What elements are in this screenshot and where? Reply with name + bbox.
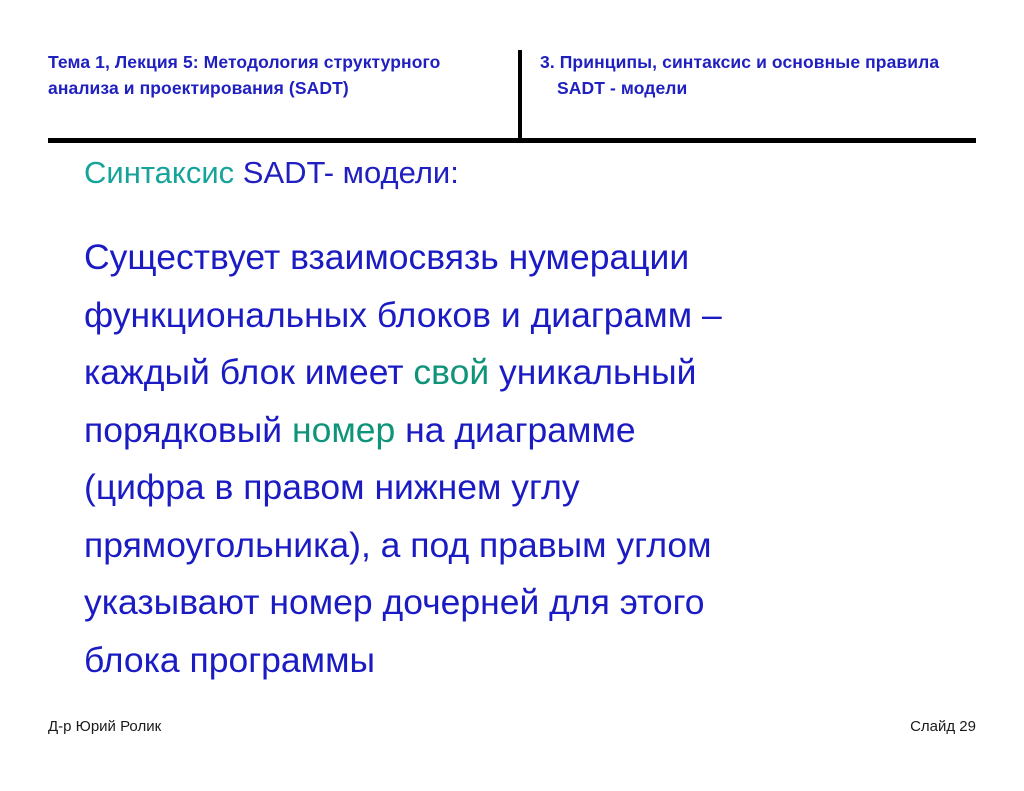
body-highlight-word: номер <box>292 410 395 450</box>
body-line: функциональных блоков и диаграмм – <box>84 287 964 345</box>
header-left-block: Тема 1, Лекция 5: Методология структурно… <box>48 50 518 101</box>
body-highlight-word: свой <box>413 352 489 392</box>
body-line: порядковый номер на диаграмме <box>84 402 964 460</box>
slide-canvas: Тема 1, Лекция 5: Методология структурно… <box>0 0 1024 791</box>
header-right-block: 3. Принципы, синтаксис и основные правил… <box>522 50 976 101</box>
subtitle-word-sadt-modeli: SADT- модели: <box>234 155 459 190</box>
body-text-segment: уникальный <box>489 352 696 392</box>
lecture-topic-title: Тема 1, Лекция 5: Методология структурно… <box>48 50 504 101</box>
slide-body-text: Существует взаимосвязь нумерациифункцион… <box>84 229 964 689</box>
subtitle-word-sintaksis: Синтаксис <box>84 155 234 190</box>
slide-subtitle: Синтаксис SADT- модели: <box>84 153 459 193</box>
section-title: 3. Принципы, синтаксис и основные правил… <box>540 50 976 101</box>
body-text-segment: указывают номер дочерней для этого <box>84 582 705 622</box>
slide-header: Тема 1, Лекция 5: Методология структурно… <box>48 50 976 140</box>
header-horizontal-rule <box>48 138 976 143</box>
body-text-segment: каждый блок имеет <box>84 352 413 392</box>
body-line: блока программы <box>84 632 964 690</box>
body-text-segment: порядковый <box>84 410 292 450</box>
body-text-segment: прямоугольника), а под правым углом <box>84 525 712 565</box>
footer-slide-number: Слайд 29 <box>910 718 976 735</box>
body-text-segment: функциональных блоков и диаграмм – <box>84 295 722 335</box>
body-text-segment: на диаграмме <box>395 410 635 450</box>
footer-author: Д-р Юрий Ролик <box>48 718 161 735</box>
body-text-segment: (цифра в правом нижнем углу <box>84 467 580 507</box>
body-line: каждый блок имеет свой уникальный <box>84 344 964 402</box>
body-text-segment: блока программы <box>84 640 375 680</box>
body-line: прямоугольника), а под правым углом <box>84 517 964 575</box>
body-line: Существует взаимосвязь нумерации <box>84 229 964 287</box>
body-text-segment: Существует взаимосвязь нумерации <box>84 237 689 277</box>
body-line: указывают номер дочерней для этого <box>84 574 964 632</box>
body-line: (цифра в правом нижнем углу <box>84 459 964 517</box>
slide-footer: Д-р Юрий Ролик Слайд 29 <box>48 718 976 735</box>
